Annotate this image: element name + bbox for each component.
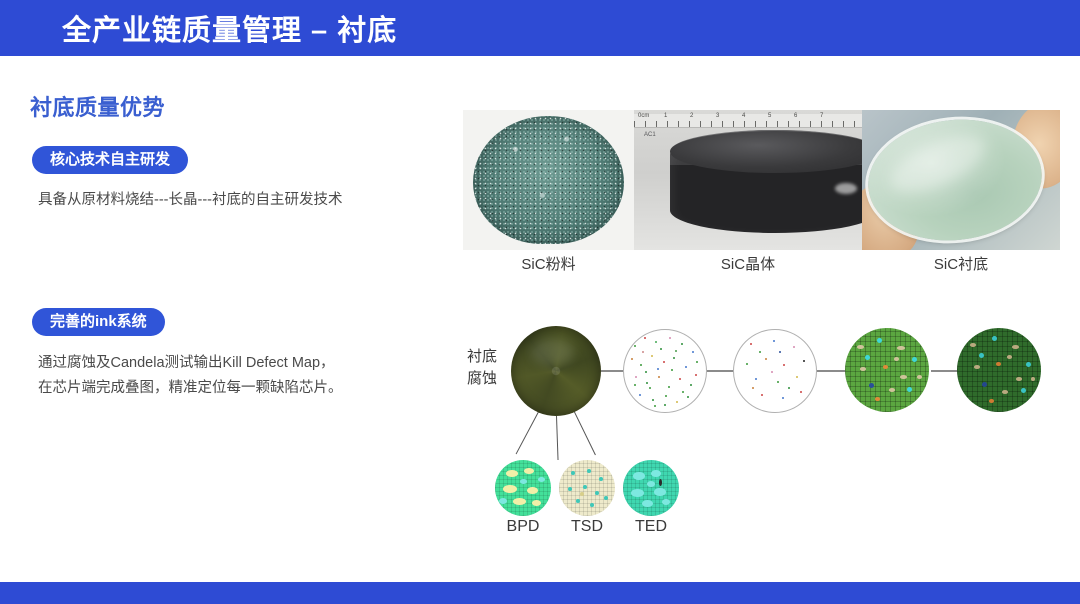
page-title: 全产业链质量管理 – 衬底 [62,7,397,49]
slide-root: 全产业链质量管理 – 衬底 衬底质量优势 核心技术自主研发 具备从原材料烧结--… [0,0,1080,604]
connector-3 [817,370,845,372]
top-banner: 全产业链质量管理 – 衬底 [0,0,1080,56]
powder-grain-texture [473,116,623,245]
die-defect-blobs [845,328,929,412]
wafer-ted [623,460,679,516]
wafer-sheen [531,339,574,366]
tsd-blobs [559,460,615,516]
connector-2 [707,370,733,372]
sample-code-text: AC1 [644,132,656,138]
defect-map-1 [623,329,707,413]
sic-substrate-photo [862,110,1060,250]
label-tsd: TSD [552,518,622,536]
flow-label-substrate-etch: 衬底 腐蚀 [459,346,505,390]
ruler-scale: 0cm1234567 [634,114,862,128]
photo-strip: 0cm1234567 AC1 [463,110,1060,250]
die-defect-blobs [957,328,1041,412]
photo-captions: SiC粉料 SiC晶体 SiC衬底 [463,255,1060,279]
pill-ink-system: 完善的ink系统 [32,308,165,336]
defect-map-2 [733,329,817,413]
sic-powder-photo [463,110,634,250]
body-text-ink-system: 通过腐蚀及Candela测试输出Kill Defect Map， 在芯片端完成叠… [38,351,343,401]
wafer-bpd [495,460,551,516]
leg-bpd [516,410,541,455]
bpd-blobs [495,460,551,516]
bottom-bar [0,582,1080,604]
section-heading: 衬底质量优势 [30,90,165,122]
caption-sic-powder: SiC粉料 [463,255,634,279]
label-bpd: BPD [488,518,558,536]
caption-sic-substrate: SiC衬底 [862,255,1060,279]
crystal-ingot-top [670,130,862,173]
defect-dots [624,330,706,412]
defect-map-flow: 衬底 腐蚀 [455,318,1075,558]
die-map-dark [957,328,1041,412]
powder-heap [473,116,623,245]
label-ted: TED [616,518,686,536]
body-text-core-technology: 具备从原材料烧结---长晶---衬底的自主研发技术 [38,188,342,213]
leg-tsd [556,416,559,460]
connector-1 [601,370,623,372]
connector-4 [931,370,957,372]
pill-core-technology: 核心技术自主研发 [32,146,188,174]
pill-label: 核心技术自主研发 [50,151,170,168]
caption-sic-crystal: SiC晶体 [634,255,862,279]
pill-label: 完善的ink系统 [50,313,147,330]
leg-ted [573,410,596,456]
wafer-etched [511,326,601,416]
ted-blobs [623,460,679,516]
wafer-tsd [559,460,615,516]
wafer-sheen [883,124,992,202]
defect-dots [734,330,816,412]
left-column: 衬底质量优势 核心技术自主研发 具备从原材料烧结---长晶---衬底的自主研发技… [0,56,450,582]
die-map-light [845,328,929,412]
sic-crystal-photo: 0cm1234567 AC1 [634,110,862,250]
